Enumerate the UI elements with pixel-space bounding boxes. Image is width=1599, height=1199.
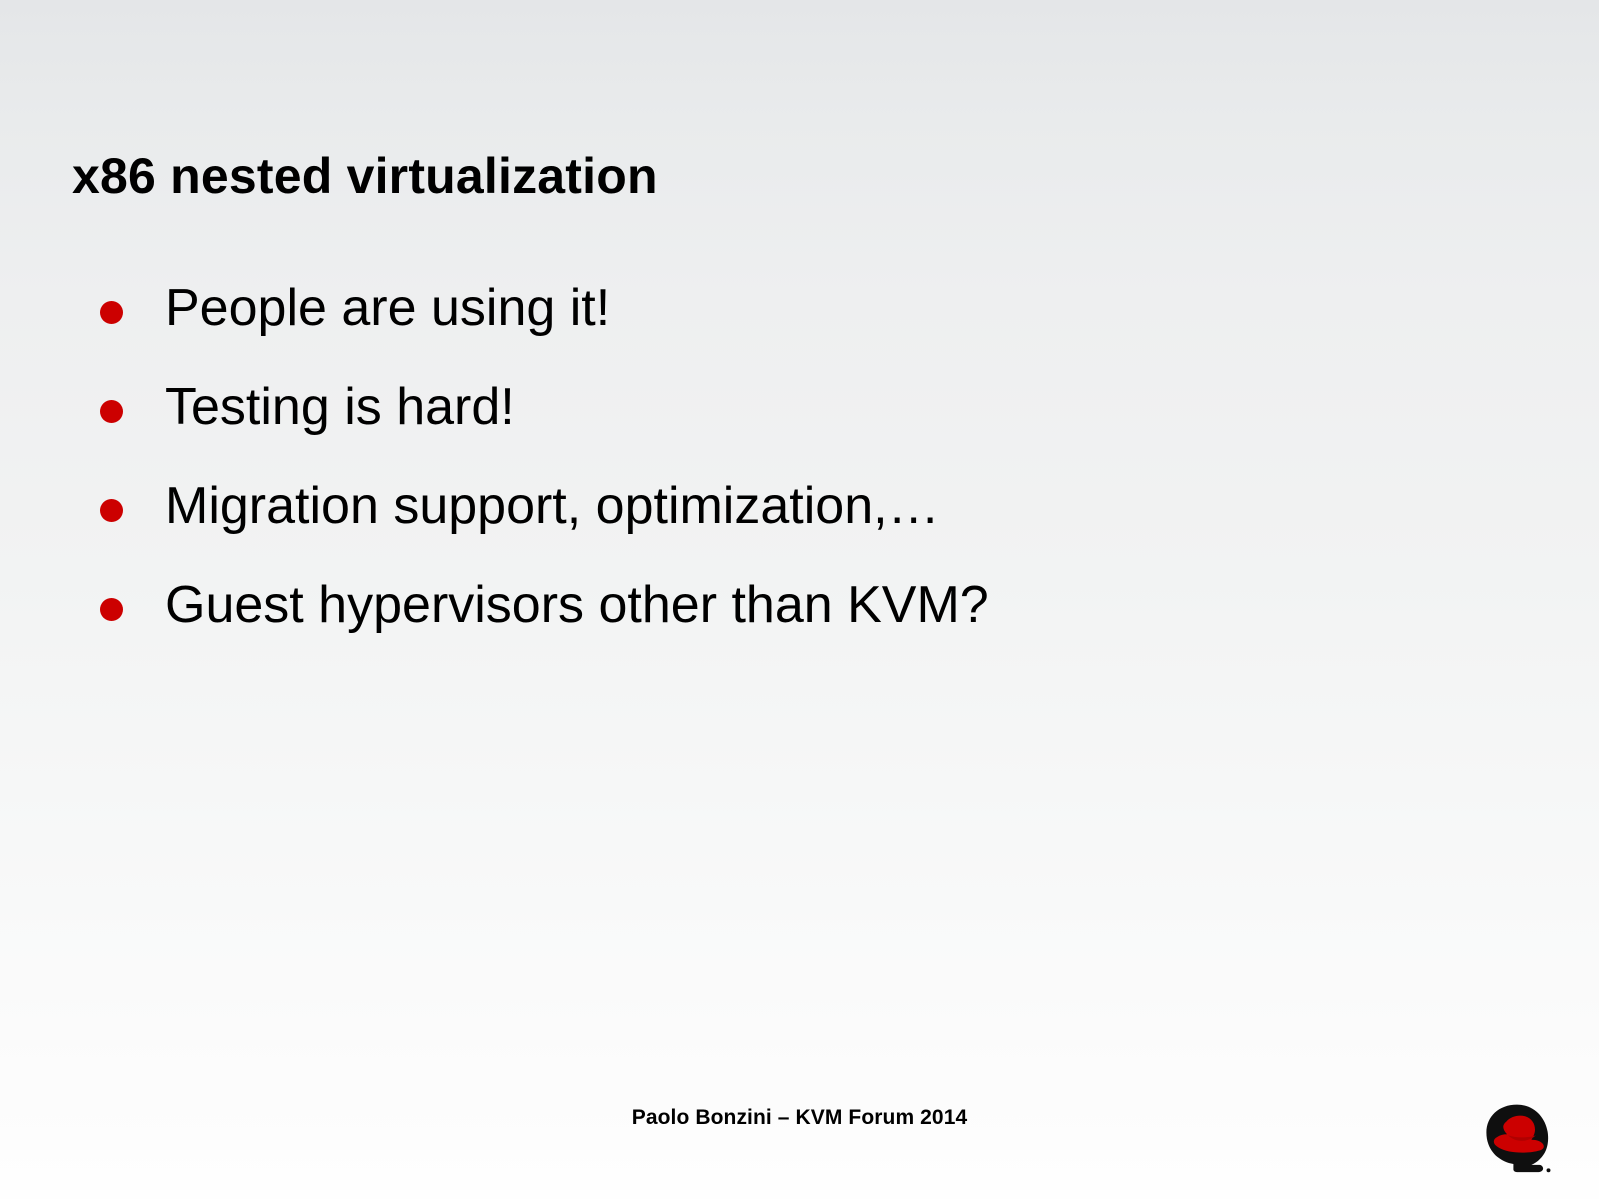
bullet-dot-icon — [100, 598, 123, 621]
bullet-dot-icon — [100, 499, 123, 522]
list-item: Migration support, optimization,… — [100, 476, 1500, 575]
list-item: People are using it! — [100, 278, 1500, 377]
page-title: x86 nested virtualization — [72, 147, 1512, 206]
presentation-slide: x86 nested virtualization People are usi… — [0, 0, 1599, 1199]
bullet-dot-icon — [100, 400, 123, 423]
list-item-label: Testing is hard! — [165, 377, 515, 438]
slide-footer: Paolo Bonzini – KVM Forum 2014 — [0, 1106, 1599, 1130]
list-item-label: People are using it! — [165, 278, 610, 339]
list-item-label: Migration support, optimization,… — [165, 476, 940, 537]
red-hat-shadowman-icon — [1472, 1092, 1562, 1182]
list-item: Guest hypervisors other than KVM? — [100, 575, 1500, 674]
list-item: Testing is hard! — [100, 377, 1500, 476]
list-item-label: Guest hypervisors other than KVM? — [165, 575, 989, 636]
bullet-list: People are using it! Testing is hard! Mi… — [100, 278, 1500, 674]
bullet-dot-icon — [100, 301, 123, 324]
